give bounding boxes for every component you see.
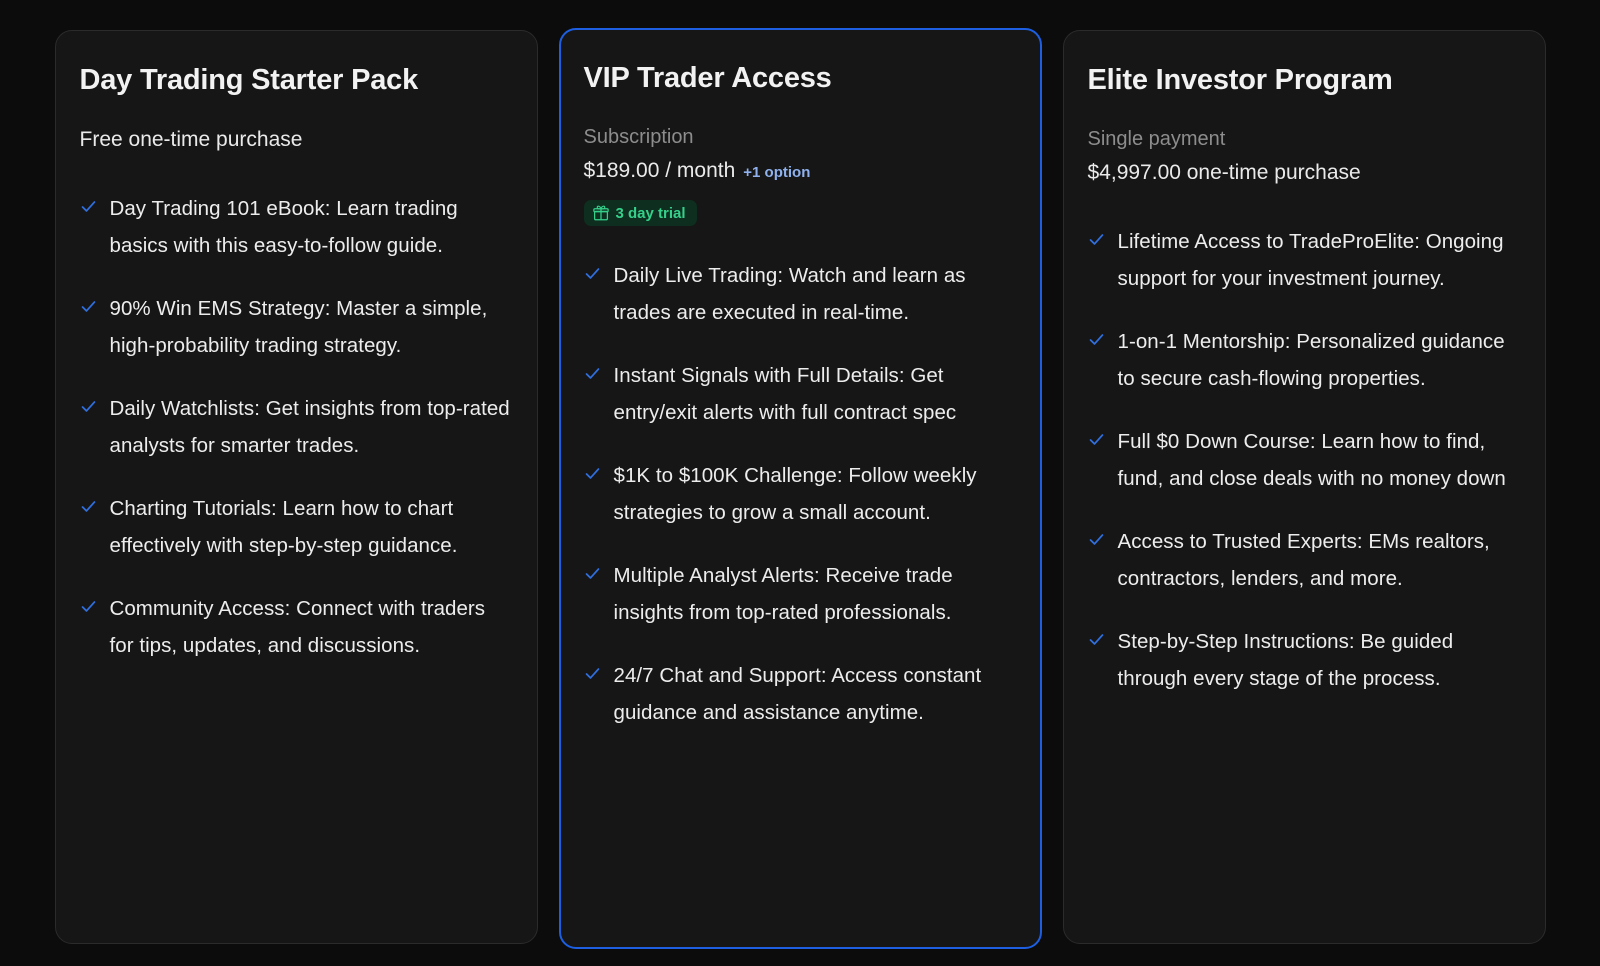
check-icon <box>584 658 601 687</box>
plan-price: $189.00 / month <box>584 156 736 186</box>
feature-text: 24/7 Chat and Support: Access constant g… <box>614 658 1017 731</box>
trial-badge-label: 3 day trial <box>616 206 686 221</box>
check-icon <box>584 358 601 387</box>
feature-item: $1K to $100K Challenge: Follow weekly st… <box>584 458 1017 531</box>
feature-text: Charting Tutorials: Learn how to chart e… <box>110 491 513 564</box>
check-icon <box>80 491 97 520</box>
check-icon <box>1088 324 1105 353</box>
feature-text: Lifetime Access to TradeProElite: Ongoin… <box>1118 224 1521 297</box>
feature-item: Lifetime Access to TradeProElite: Ongoin… <box>1088 224 1521 297</box>
plan-title: VIP Trader Access <box>584 63 1017 95</box>
feature-text: Community Access: Connect with traders f… <box>110 591 513 664</box>
check-icon <box>80 291 97 320</box>
feature-item: Instant Signals with Full Details: Get e… <box>584 358 1017 431</box>
feature-text: Daily Watchlists: Get insights from top-… <box>110 391 513 464</box>
feature-item: 1-on-1 Mentorship: Personalized guidance… <box>1088 324 1521 397</box>
plan-price-row: Free one-time purchase <box>80 125 513 155</box>
feature-list: Daily Live Trading: Watch and learn as t… <box>584 258 1017 731</box>
plan-price: Free one-time purchase <box>80 125 303 155</box>
feature-item: Multiple Analyst Alerts: Receive trade i… <box>584 558 1017 631</box>
check-icon <box>584 258 601 287</box>
check-icon <box>1088 224 1105 253</box>
feature-text: Day Trading 101 eBook: Learn trading bas… <box>110 191 513 264</box>
plan-card-elite-investor-program[interactable]: Elite Investor ProgramSingle payment$4,9… <box>1063 30 1546 944</box>
check-icon <box>1088 524 1105 553</box>
check-icon <box>584 558 601 587</box>
feature-item: Full $0 Down Course: Learn how to find, … <box>1088 424 1521 497</box>
feature-text: $1K to $100K Challenge: Follow weekly st… <box>614 458 1017 531</box>
plan-card-vip-trader-access[interactable]: VIP Trader AccessSubscription$189.00 / m… <box>559 28 1042 949</box>
plan-pricing: Subscription$189.00 / month+1 option3 da… <box>584 123 1017 226</box>
feature-item: Access to Trusted Experts: EMs realtors,… <box>1088 524 1521 597</box>
feature-text: Step-by-Step Instructions: Be guided thr… <box>1118 624 1521 697</box>
feature-text: Multiple Analyst Alerts: Receive trade i… <box>614 558 1017 631</box>
plan-title: Day Trading Starter Pack <box>80 65 513 97</box>
check-icon <box>1088 424 1105 453</box>
plan-card-day-trading-starter-pack[interactable]: Day Trading Starter PackFree one-time pu… <box>55 30 538 944</box>
feature-text: Daily Live Trading: Watch and learn as t… <box>614 258 1017 331</box>
feature-text: 1-on-1 Mentorship: Personalized guidance… <box>1118 324 1521 397</box>
pricing-plans-grid: Day Trading Starter PackFree one-time pu… <box>0 0 1600 966</box>
feature-list: Lifetime Access to TradeProElite: Ongoin… <box>1088 224 1521 697</box>
price-option-link[interactable]: +1 option <box>743 162 810 184</box>
feature-text: 90% Win EMS Strategy: Master a simple, h… <box>110 291 513 364</box>
check-icon <box>80 591 97 620</box>
plan-price-row: $189.00 / month+1 option <box>584 156 1017 186</box>
plan-title: Elite Investor Program <box>1088 65 1521 97</box>
feature-text: Full $0 Down Course: Learn how to find, … <box>1118 424 1521 497</box>
trial-badge: 3 day trial <box>584 200 697 226</box>
plan-price-row: $4,997.00 one-time purchase <box>1088 158 1521 188</box>
feature-item: Daily Watchlists: Get insights from top-… <box>80 391 513 464</box>
check-icon <box>80 191 97 220</box>
plan-pricing: Single payment$4,997.00 one-time purchas… <box>1088 125 1521 188</box>
feature-item: 90% Win EMS Strategy: Master a simple, h… <box>80 291 513 364</box>
gift-icon <box>593 205 609 221</box>
check-icon <box>1088 624 1105 653</box>
check-icon <box>584 458 601 487</box>
feature-list: Day Trading 101 eBook: Learn trading bas… <box>80 191 513 664</box>
feature-item: Day Trading 101 eBook: Learn trading bas… <box>80 191 513 264</box>
feature-item: Step-by-Step Instructions: Be guided thr… <box>1088 624 1521 697</box>
feature-item: Daily Live Trading: Watch and learn as t… <box>584 258 1017 331</box>
feature-text: Instant Signals with Full Details: Get e… <box>614 358 1017 431</box>
plan-billing-kicker: Subscription <box>584 123 1017 152</box>
plan-pricing: Free one-time purchase <box>80 125 513 155</box>
plan-price: $4,997.00 one-time purchase <box>1088 158 1361 188</box>
feature-item: 24/7 Chat and Support: Access constant g… <box>584 658 1017 731</box>
feature-text: Access to Trusted Experts: EMs realtors,… <box>1118 524 1521 597</box>
check-icon <box>80 391 97 420</box>
feature-item: Community Access: Connect with traders f… <box>80 591 513 664</box>
feature-item: Charting Tutorials: Learn how to chart e… <box>80 491 513 564</box>
plan-billing-kicker: Single payment <box>1088 125 1521 154</box>
